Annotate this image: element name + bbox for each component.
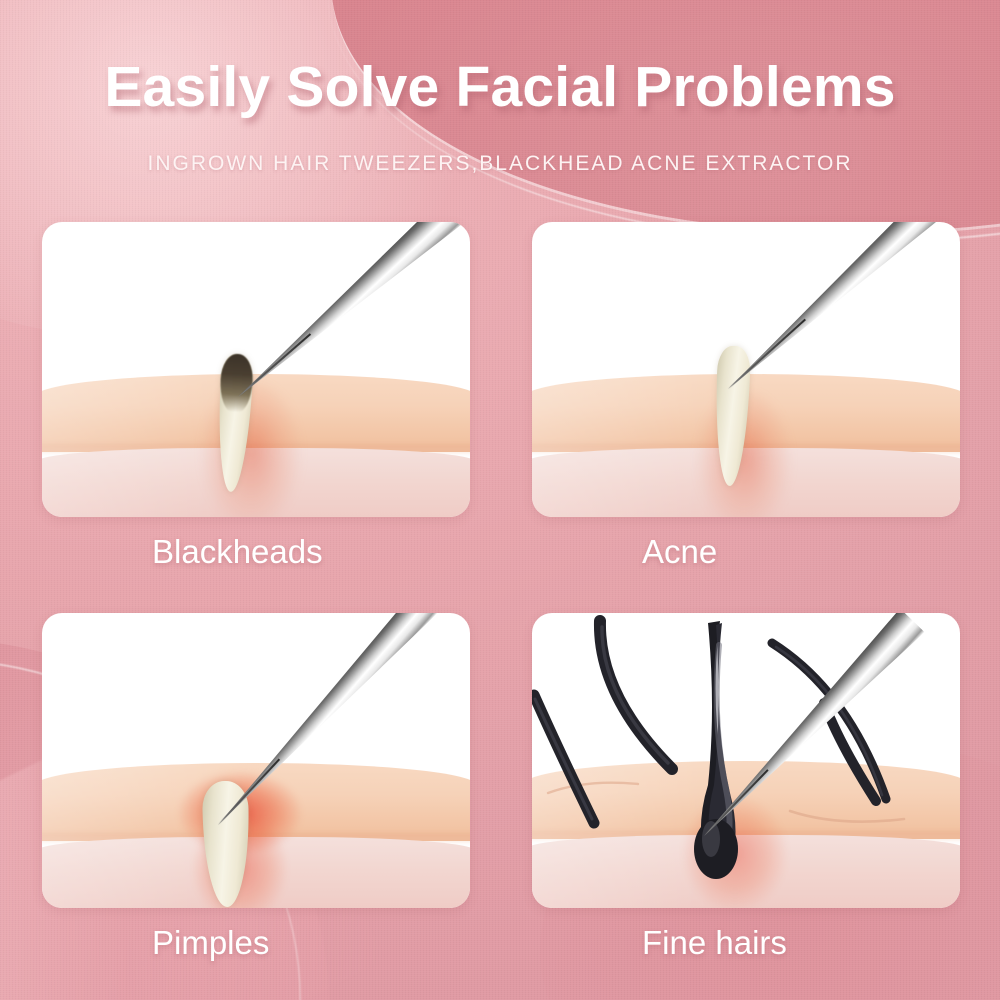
illustration-acne bbox=[532, 222, 960, 517]
card-fine-hairs: Fine hairs bbox=[532, 613, 960, 962]
illustration-fine-hairs bbox=[532, 613, 960, 908]
card-caption-pimples: Pimples bbox=[42, 924, 470, 962]
illustration-blackheads bbox=[42, 222, 470, 517]
card-caption-fine-hairs: Fine hairs bbox=[532, 924, 960, 962]
card-acne: Acne bbox=[532, 222, 960, 571]
card-caption-acne: Acne bbox=[532, 533, 960, 571]
product-infographic: Easily Solve Facial Problems INGROWN HAI… bbox=[0, 0, 1000, 1000]
illustration-pimples bbox=[42, 613, 470, 908]
page-title: Easily Solve Facial Problems bbox=[0, 54, 1000, 120]
card-blackheads: Blackheads bbox=[42, 222, 470, 571]
card-pimples: Pimples bbox=[42, 613, 470, 962]
page-subtitle: INGROWN HAIR TWEEZERS,BLACKHEAD ACNE EXT… bbox=[0, 152, 1000, 176]
card-caption-blackheads: Blackheads bbox=[42, 533, 470, 571]
